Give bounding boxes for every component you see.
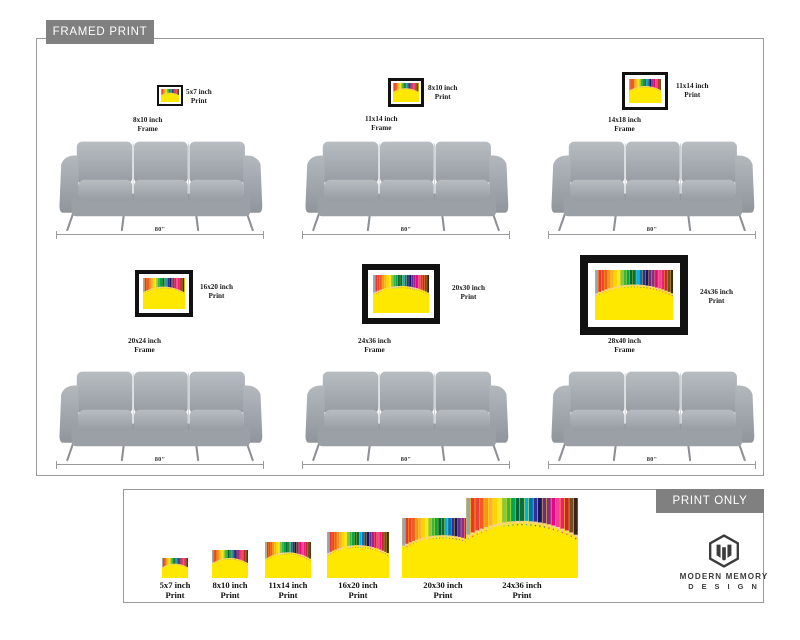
frame-size-label-4: 20x24 inch Frame [128,337,161,355]
artwork-framed-4 [143,278,184,308]
artwork-framed-6 [595,270,674,321]
sofa-width-value: 80" [302,226,510,233]
sofa-illustration [548,363,756,467]
sofa-width-dimension: 80" [548,228,756,240]
frame-mat [625,75,664,106]
print-only-label-4: 16x20 inch Print [338,580,377,601]
print-only-label-6: 24x36 inch Print [502,580,541,601]
dimension-bar [548,234,756,235]
frame-mat [588,263,680,327]
frame-mat [139,274,188,312]
frame-size-line1: 28x40 inch [608,337,641,346]
artwork-framed-1 [161,89,179,102]
sofa-width-dimension: 80" [302,228,510,240]
sofa-width-value: 80" [56,456,264,463]
frame-size-line2: Frame [358,346,391,355]
sofa-width-dimension: 80" [302,458,510,470]
frame-mat [391,81,422,105]
frame-size-label-3: 14x18 inch Frame [608,116,641,134]
artwork-framed-2 [393,83,418,101]
frame-size-line2: Frame [608,346,641,355]
framed-artwork-6[interactable] [580,255,688,335]
print-size-label-6: 24x36 inch Print [700,288,733,306]
print-size-line1: 24x36 inch [700,288,733,297]
print-only-line1: 8x10 inch [212,580,247,590]
frame-mat [368,270,434,318]
print-size-label-4: 16x20 inch Print [200,283,233,301]
dimension-bar [548,464,756,465]
dimension-cap-right [755,461,756,469]
brand-name-line2: D E S I G N [672,582,776,591]
artwork-print-4 [327,532,389,578]
dimension-cap-left [302,231,303,239]
tab-print-only[interactable]: PRINT ONLY [656,489,764,513]
brand-logo: MODERN MEMORY D E S I G N [672,533,776,595]
sofa-width-value: 80" [302,456,510,463]
frame-size-line1: 11x14 inch [365,115,398,124]
print-size-line2: Print [676,91,709,100]
print-size-line1: 11x14 inch [676,82,709,91]
sofa-illustration [302,363,510,467]
frame-size-line1: 14x18 inch [608,116,641,125]
dimension-cap-left [56,461,57,469]
print-size-line2: Print [700,297,733,306]
dimension-bar [302,234,510,235]
frame-size-label-1: 8x10 inch Frame [133,116,162,134]
print-only-item-2[interactable]: 8x10 inch Print [212,550,248,604]
print-only-line2: Print [502,590,541,600]
framed-artwork-4[interactable] [135,270,193,317]
dimension-cap-left [548,231,549,239]
artwork-print-6 [466,498,578,578]
print-only-line1: 5x7 inch [160,580,191,590]
dimension-cap-right [509,461,510,469]
print-size-line2: Print [428,93,457,102]
print-only-line1: 24x36 inch [502,580,541,590]
sofa-illustration [56,363,264,467]
sofa-illustration [56,133,264,237]
print-only-line1: 20x30 inch [423,580,462,590]
print-size-line1: 5x7 inch [186,88,212,97]
print-size-line1: 20x30 inch [452,284,485,293]
frame-size-line1: 20x24 inch [128,337,161,346]
dimension-cap-left [302,461,303,469]
sofa-width-value: 80" [548,226,756,233]
hexagon-monogram-icon [672,533,776,569]
brand-name-line1: MODERN MEMORY [672,572,776,581]
frame-size-label-2: 11x14 inch Frame [365,115,398,133]
framed-artwork-1[interactable] [157,85,183,106]
frame-size-line2: Frame [128,346,161,355]
print-only-label-2: 8x10 inch Print [212,580,247,601]
artwork-framed-5 [373,275,429,313]
frame-mat [159,87,181,104]
framed-artwork-5[interactable] [362,264,440,324]
sofa-illustration [548,133,756,237]
sofa-width-dimension: 80" [548,458,756,470]
framed-artwork-3[interactable] [622,72,668,110]
print-only-line1: 16x20 inch [338,580,377,590]
print-size-label-1: 5x7 inch Print [186,88,212,106]
print-size-label-3: 11x14 inch Print [676,82,709,100]
dimension-cap-right [509,231,510,239]
dimension-cap-right [263,461,264,469]
frame-size-label-5: 24x36 inch Frame [358,337,391,355]
dimension-cap-left [56,231,57,239]
dimension-cap-right [755,231,756,239]
sofa-illustration [302,133,510,237]
framed-artwork-2[interactable] [388,78,424,107]
frame-size-label-6: 28x40 inch Frame [608,337,641,355]
print-only-label-5: 20x30 inch Print [423,580,462,601]
print-size-line2: Print [200,292,233,301]
print-only-line2: Print [338,590,377,600]
dimension-bar [56,234,264,235]
print-only-item-6[interactable]: 24x36 inch Print [466,498,578,604]
print-size-label-5: 20x30 inch Print [452,284,485,302]
print-only-line2: Print [212,590,247,600]
sofa-width-dimension: 80" [56,228,264,240]
print-only-label-1: 5x7 inch Print [160,580,191,601]
print-size-line2: Print [452,293,485,302]
print-only-item-1[interactable]: 5x7 inch Print [162,558,188,604]
print-size-line1: 8x10 inch [428,84,457,93]
sofa-width-value: 80" [548,456,756,463]
artwork-framed-3 [629,79,662,104]
print-only-line2: Print [269,590,308,600]
sofa-width-dimension: 80" [56,458,264,470]
print-only-line2: Print [160,590,191,600]
print-only-line2: Print [423,590,462,600]
print-size-label-2: 8x10 inch Print [428,84,457,102]
artwork-print-2 [212,550,248,578]
print-only-item-3[interactable]: 11x14 inch Print [265,542,311,604]
print-only-line1: 11x14 inch [269,580,308,590]
print-size-line2: Print [186,97,212,106]
print-only-item-4[interactable]: 16x20 inch Print [327,532,389,604]
artwork-print-3 [265,542,311,578]
frame-size-line1: 24x36 inch [358,337,391,346]
sofa-width-value: 80" [56,226,264,233]
artwork-print-1 [162,558,188,578]
dimension-bar [56,464,264,465]
print-only-label-3: 11x14 inch Print [269,580,308,601]
print-size-line1: 16x20 inch [200,283,233,292]
dimension-bar [302,464,510,465]
dimension-cap-right [263,231,264,239]
tab-framed-print[interactable]: FRAMED PRINT [46,20,154,44]
dimension-cap-left [548,461,549,469]
poster-canvas: FRAMED PRINT PRINT ONLY 5x7 inch Print8x… [0,0,800,640]
frame-size-line1: 8x10 inch [133,116,162,125]
